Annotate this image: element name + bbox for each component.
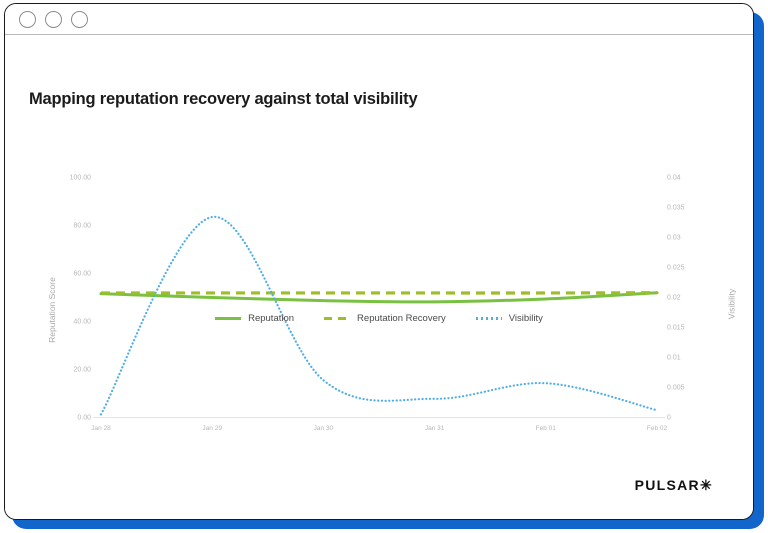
legend-swatch — [324, 317, 350, 320]
x-tick: Jan 29 — [202, 425, 222, 432]
legend-label: Reputation — [248, 313, 294, 324]
legend-item[interactable]: Visibility — [476, 313, 543, 324]
y-tick-left: 20.00 — [73, 367, 91, 374]
y-tick-right: 0.035 — [667, 205, 685, 212]
y-tick-right: 0.015 — [667, 325, 685, 332]
y-tick-right: 0.02 — [667, 295, 681, 302]
window-content: Mapping reputation recovery against tota… — [5, 35, 753, 519]
y-axis-label-left: Reputation Score — [47, 277, 57, 343]
legend-label: Visibility — [509, 313, 543, 324]
legend-item[interactable]: Reputation Recovery — [324, 313, 446, 324]
brand-logo: PULSAR✳ — [635, 477, 713, 494]
minimize-icon[interactable] — [45, 11, 62, 28]
legend-item[interactable]: Reputation — [215, 313, 294, 324]
y-tick-right: 0.005 — [667, 385, 685, 392]
x-tick: Feb 01 — [536, 425, 556, 432]
y-tick-right: 0.025 — [667, 265, 685, 272]
x-tick: Jan 28 — [91, 425, 111, 432]
y-tick-left: 100.00 — [70, 175, 91, 182]
legend-swatch — [215, 317, 241, 320]
chart-lines — [101, 178, 657, 418]
y-tick-right: 0.04 — [667, 175, 681, 182]
y-tick-right: 0.01 — [667, 355, 681, 362]
y-tick-left: 80.00 — [73, 223, 91, 230]
page-title: Mapping reputation recovery against tota… — [29, 90, 417, 109]
y-tick-right: 0.03 — [667, 235, 681, 242]
legend-swatch — [476, 317, 502, 320]
y-tick-right: 0 — [667, 415, 671, 422]
x-tick: Jan 31 — [425, 425, 445, 432]
screenshot-root: Mapping reputation recovery against tota… — [0, 0, 768, 533]
x-tick: Jan 30 — [314, 425, 334, 432]
maximize-icon[interactable] — [71, 11, 88, 28]
window-titlebar — [5, 4, 753, 35]
legend-label: Reputation Recovery — [357, 313, 446, 324]
chart-legend: ReputationReputation RecoveryVisibility — [5, 313, 753, 324]
browser-window: Mapping reputation recovery against tota… — [4, 3, 754, 520]
plot-area: 0.0020.0040.0060.0080.00100.00 00.0050.0… — [101, 178, 657, 418]
chart-container: Reputation Score Visibility 0.0020.0040.… — [5, 160, 753, 460]
y-tick-left: 60.00 — [73, 271, 91, 278]
y-tick-left: 0.00 — [77, 415, 91, 422]
close-icon[interactable] — [19, 11, 36, 28]
x-tick: Feb 02 — [647, 425, 667, 432]
